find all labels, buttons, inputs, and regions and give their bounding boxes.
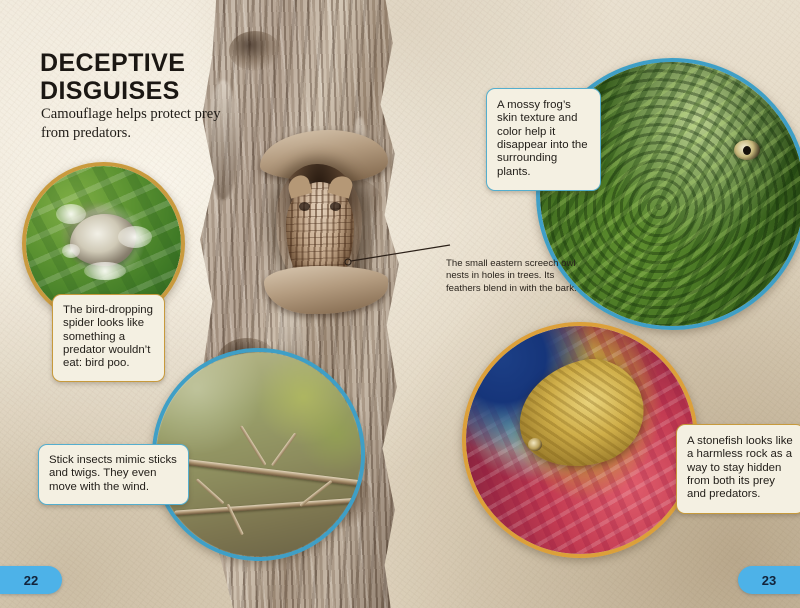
caption-mossy-frog: A mossy frog’s skin texture and color he… — [486, 88, 601, 191]
stonefish-eye — [528, 438, 542, 451]
page-title-line-1: DECEPTIVE — [40, 49, 185, 77]
photo-stonefish — [462, 322, 698, 558]
book-spread: DECEPTIVE DISGUISES Camouflage helps pro… — [0, 0, 800, 608]
page-subtitle: Camouflage helps protect prey from preda… — [41, 105, 221, 143]
page-title-line-2: DISGUISES — [40, 77, 180, 105]
frog-pupil — [743, 146, 751, 155]
caption-stonefish: A stonefish looks like a harmless rock a… — [676, 424, 800, 514]
page-number-right: 23 — [738, 566, 800, 594]
caption-bird-dropping-spider: The bird-dropping spider looks like some… — [52, 294, 165, 382]
caption-stick-insect: Stick insects mimic sticks and twigs. Th… — [38, 444, 189, 505]
page-number-left: 22 — [0, 566, 62, 594]
caption-screech-owl: The small eastern screech owl nests in h… — [446, 258, 582, 295]
stonefish-body — [507, 348, 654, 479]
frog-eye — [734, 140, 760, 160]
page-title: DECEPTIVE DISGUISES — [40, 49, 185, 106]
photo-image-coral-reef — [466, 326, 694, 554]
